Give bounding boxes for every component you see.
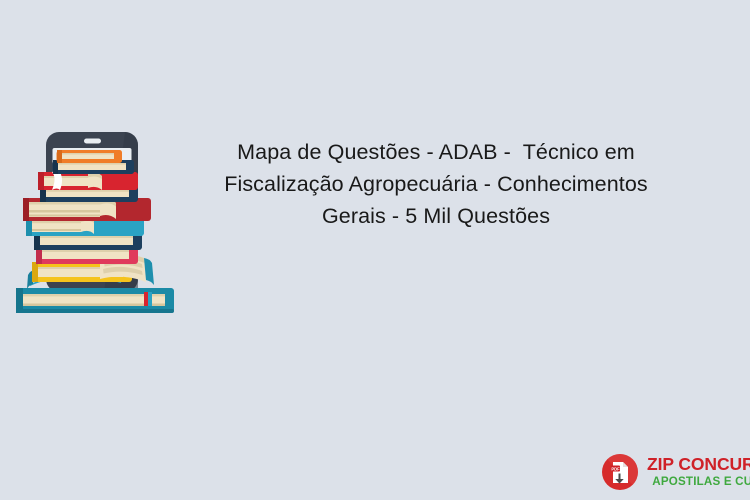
title-line-3: Gerais - 5 Mil Questões — [192, 200, 680, 232]
title-line-1: Mapa de Questões - ADAB - Técnico em — [192, 136, 680, 168]
book-base-teal — [16, 288, 174, 313]
stack-of-books-illustration — [8, 128, 183, 323]
product-banner: Mapa de Questões - ADAB - Técnico em Fis… — [0, 0, 750, 500]
brand-logo[interactable]: PDF ZIP CONCURSOS APOSTILAS E CURSOS — [600, 450, 746, 494]
page-title: Mapa de Questões - ADAB - Técnico em Fis… — [192, 136, 680, 232]
logo-wordmark: ZIP CONCURSOS APOSTILAS E CURSOS — [647, 456, 750, 488]
book-red — [38, 172, 138, 190]
book-orange-top — [57, 150, 123, 163]
logo-subtitle: APOSTILAS E CURSOS — [652, 476, 750, 488]
pdf-download-icon: PDF — [600, 452, 640, 492]
logo-title: ZIP CONCURSOS — [647, 456, 750, 474]
svg-text:PDF: PDF — [611, 466, 620, 471]
title-line-2: Fiscalização Agropecuária - Conhecimento… — [192, 168, 680, 200]
